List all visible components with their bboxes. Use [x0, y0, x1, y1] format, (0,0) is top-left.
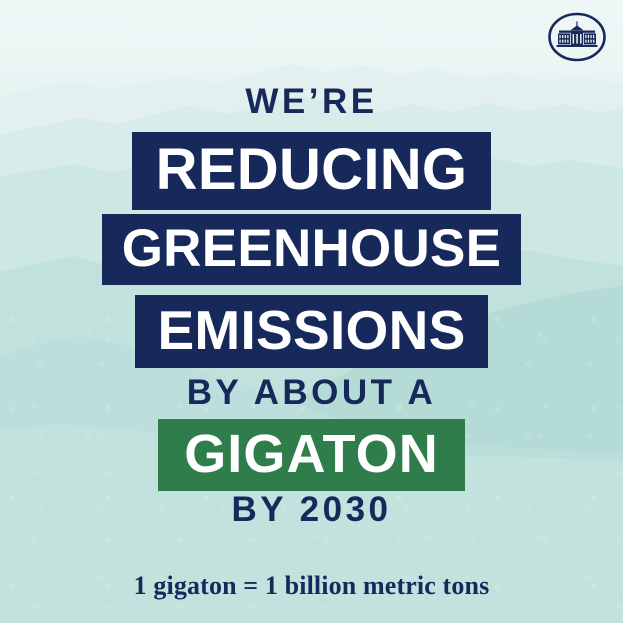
- headline-line-by-2030: BY 2030: [231, 490, 391, 529]
- headline-row-emissions: EMISSIONS: [0, 295, 623, 368]
- white-house-seal-icon: [547, 11, 607, 63]
- headline-row-reducing: REDUCING: [0, 132, 623, 210]
- headline-row-gigaton: GIGATON: [0, 419, 623, 491]
- poster-canvas: WE’RE REDUCING GREENHOUSE EMISSIONS BY A…: [0, 0, 623, 623]
- headline-row-by-about-a: BY ABOUT A: [0, 375, 623, 410]
- headline-line-were: WE’RE: [245, 82, 377, 121]
- headline-row-greenhouse: GREENHOUSE: [0, 214, 623, 285]
- headline-line-gigaton: GIGATON: [158, 419, 465, 491]
- headline-line-by-about-a: BY ABOUT A: [187, 373, 437, 412]
- headline-line-reducing: REDUCING: [132, 132, 492, 210]
- headline-line-emissions: EMISSIONS: [135, 295, 487, 368]
- headline-row-were: WE’RE: [0, 84, 623, 119]
- footnote: 1 gigaton = 1 billion metric tons: [0, 571, 623, 601]
- footnote-text: 1 gigaton = 1 billion metric tons: [134, 571, 490, 600]
- seal-building-glyph: [557, 22, 598, 48]
- headline-line-greenhouse: GREENHOUSE: [102, 214, 522, 285]
- headline-row-by-2030: BY 2030: [0, 492, 623, 527]
